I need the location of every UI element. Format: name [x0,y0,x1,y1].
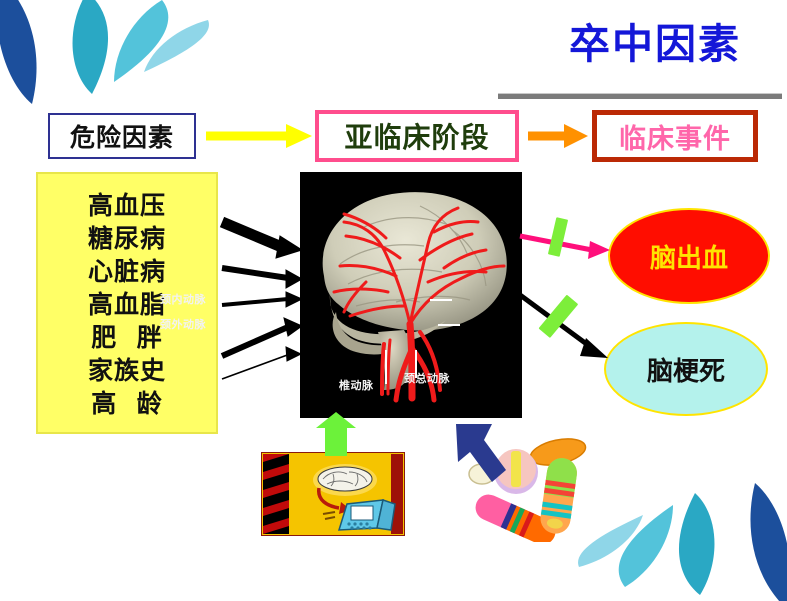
brain-label-vertebral-artery: 椎动脉 [339,377,374,393]
slide-canvas: 卒中因素 危险因素 亚临床阶段 临床事件 高血压 糖尿病 心脏病 高血脂 肥 胖… [0,0,787,587]
brain-label-common-carotid: 颈总动脉 [404,370,450,386]
stage-box-risk-factors[interactable]: 危险因素 [48,113,196,159]
brain-label-internal-carotid: 颈内动脉 [160,291,206,307]
risk-factor-item: 肥 胖 [91,325,162,350]
outcome-label-cerebral-infarction: 脑梗死 [647,351,725,388]
risk-arrow-5 [222,347,301,379]
outcome-arrow-hemorrhage [520,236,610,259]
title-underline-rule [498,93,782,99]
imaging-workstation-icon [261,452,405,536]
slide-title: 卒中因素 [540,22,770,67]
brain-label-external-carotid: 颈外动脉 [160,316,206,332]
risk-factor-item: 心脏病 [88,259,166,284]
stage-box-risk-factors-label: 危险因素 [70,118,174,154]
stage-box-subclinical[interactable]: 亚临床阶段 [315,110,519,162]
stage-box-clinical-event[interactable]: 临床事件 [592,110,758,162]
decor-blades-top-left [0,0,222,106]
risk-factor-item: 高血压 [88,193,166,218]
outcome-arrow-infarction [516,292,608,358]
risk-arrow-1 [222,222,302,258]
flow-arrow-yellow [206,124,312,148]
stage-box-clinical-event-label: 临床事件 [619,117,731,156]
risk-arrow-2 [222,268,302,288]
stage-box-subclinical-label: 亚临床阶段 [344,116,489,156]
outcome-label-cerebral-hemorrhage: 脑出血 [650,238,728,275]
imaging-input-arrow [316,412,356,456]
risk-to-brain-arrows [222,222,302,379]
medication-pills-icon [452,424,597,542]
risk-factor-item: 高血脂 [88,292,166,317]
outcome-ellipse-cerebral-infarction[interactable]: 脑梗死 [604,322,768,416]
risk-arrow-4 [222,318,302,356]
risk-factor-item: 家族史 [88,358,166,383]
flow-arrow-orange [528,124,588,148]
decor-blades-bottom-right [565,481,787,601]
blocker-bars [538,217,578,338]
risk-factor-item: 糖尿病 [88,226,166,251]
risk-arrow-3 [222,292,302,307]
outcome-ellipse-cerebral-hemorrhage[interactable]: 脑出血 [608,208,770,304]
risk-factor-item: 高 龄 [91,391,162,416]
